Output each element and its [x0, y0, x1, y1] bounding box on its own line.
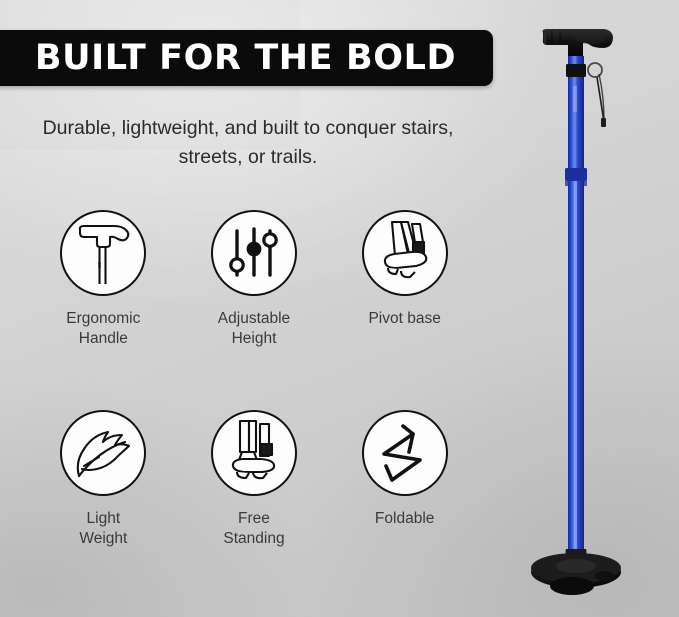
cane-handle [543, 29, 614, 58]
feature-label: Free Standing [223, 509, 284, 549]
shaft-collar [566, 64, 586, 77]
telescoping-joint [565, 168, 587, 181]
cane-handle-icon [60, 210, 146, 296]
sliders-icon [211, 210, 297, 296]
headline-text: BUILT FOR THE BOLD [35, 38, 456, 78]
subheading-text: Durable, lightweight, and built to conqu… [22, 114, 474, 172]
feature-grid: Ergonomic Handle Adjustable Height [28, 210, 480, 610]
wrist-strap [588, 63, 606, 127]
pivot-base [531, 549, 621, 595]
feature-ergonomic-handle: Ergonomic Handle [28, 210, 179, 410]
feature-label: Pivot base [368, 309, 440, 329]
shaft-brand-mark [573, 86, 577, 112]
shaft-highlight [574, 181, 577, 549]
feature-label: Adjustable Height [218, 309, 290, 349]
feature-pivot-base: Pivot base [329, 210, 480, 410]
feature-label: Light Weight [79, 509, 127, 549]
feature-light-weight: Light Weight [28, 410, 179, 610]
headline-banner: BUILT FOR THE BOLD [0, 30, 493, 86]
feature-label: Ergonomic Handle [66, 309, 140, 349]
free-standing-icon [211, 410, 297, 496]
feature-label: Foldable [375, 509, 434, 529]
zigzag-fold-icon [362, 410, 448, 496]
feature-foldable: Foldable [329, 410, 480, 610]
feature-adjustable-height: Adjustable Height [179, 210, 330, 410]
product-photo [500, 0, 679, 617]
pivot-base-icon [362, 210, 448, 296]
feather-icon [60, 410, 146, 496]
feature-free-standing: Free Standing [179, 410, 330, 610]
